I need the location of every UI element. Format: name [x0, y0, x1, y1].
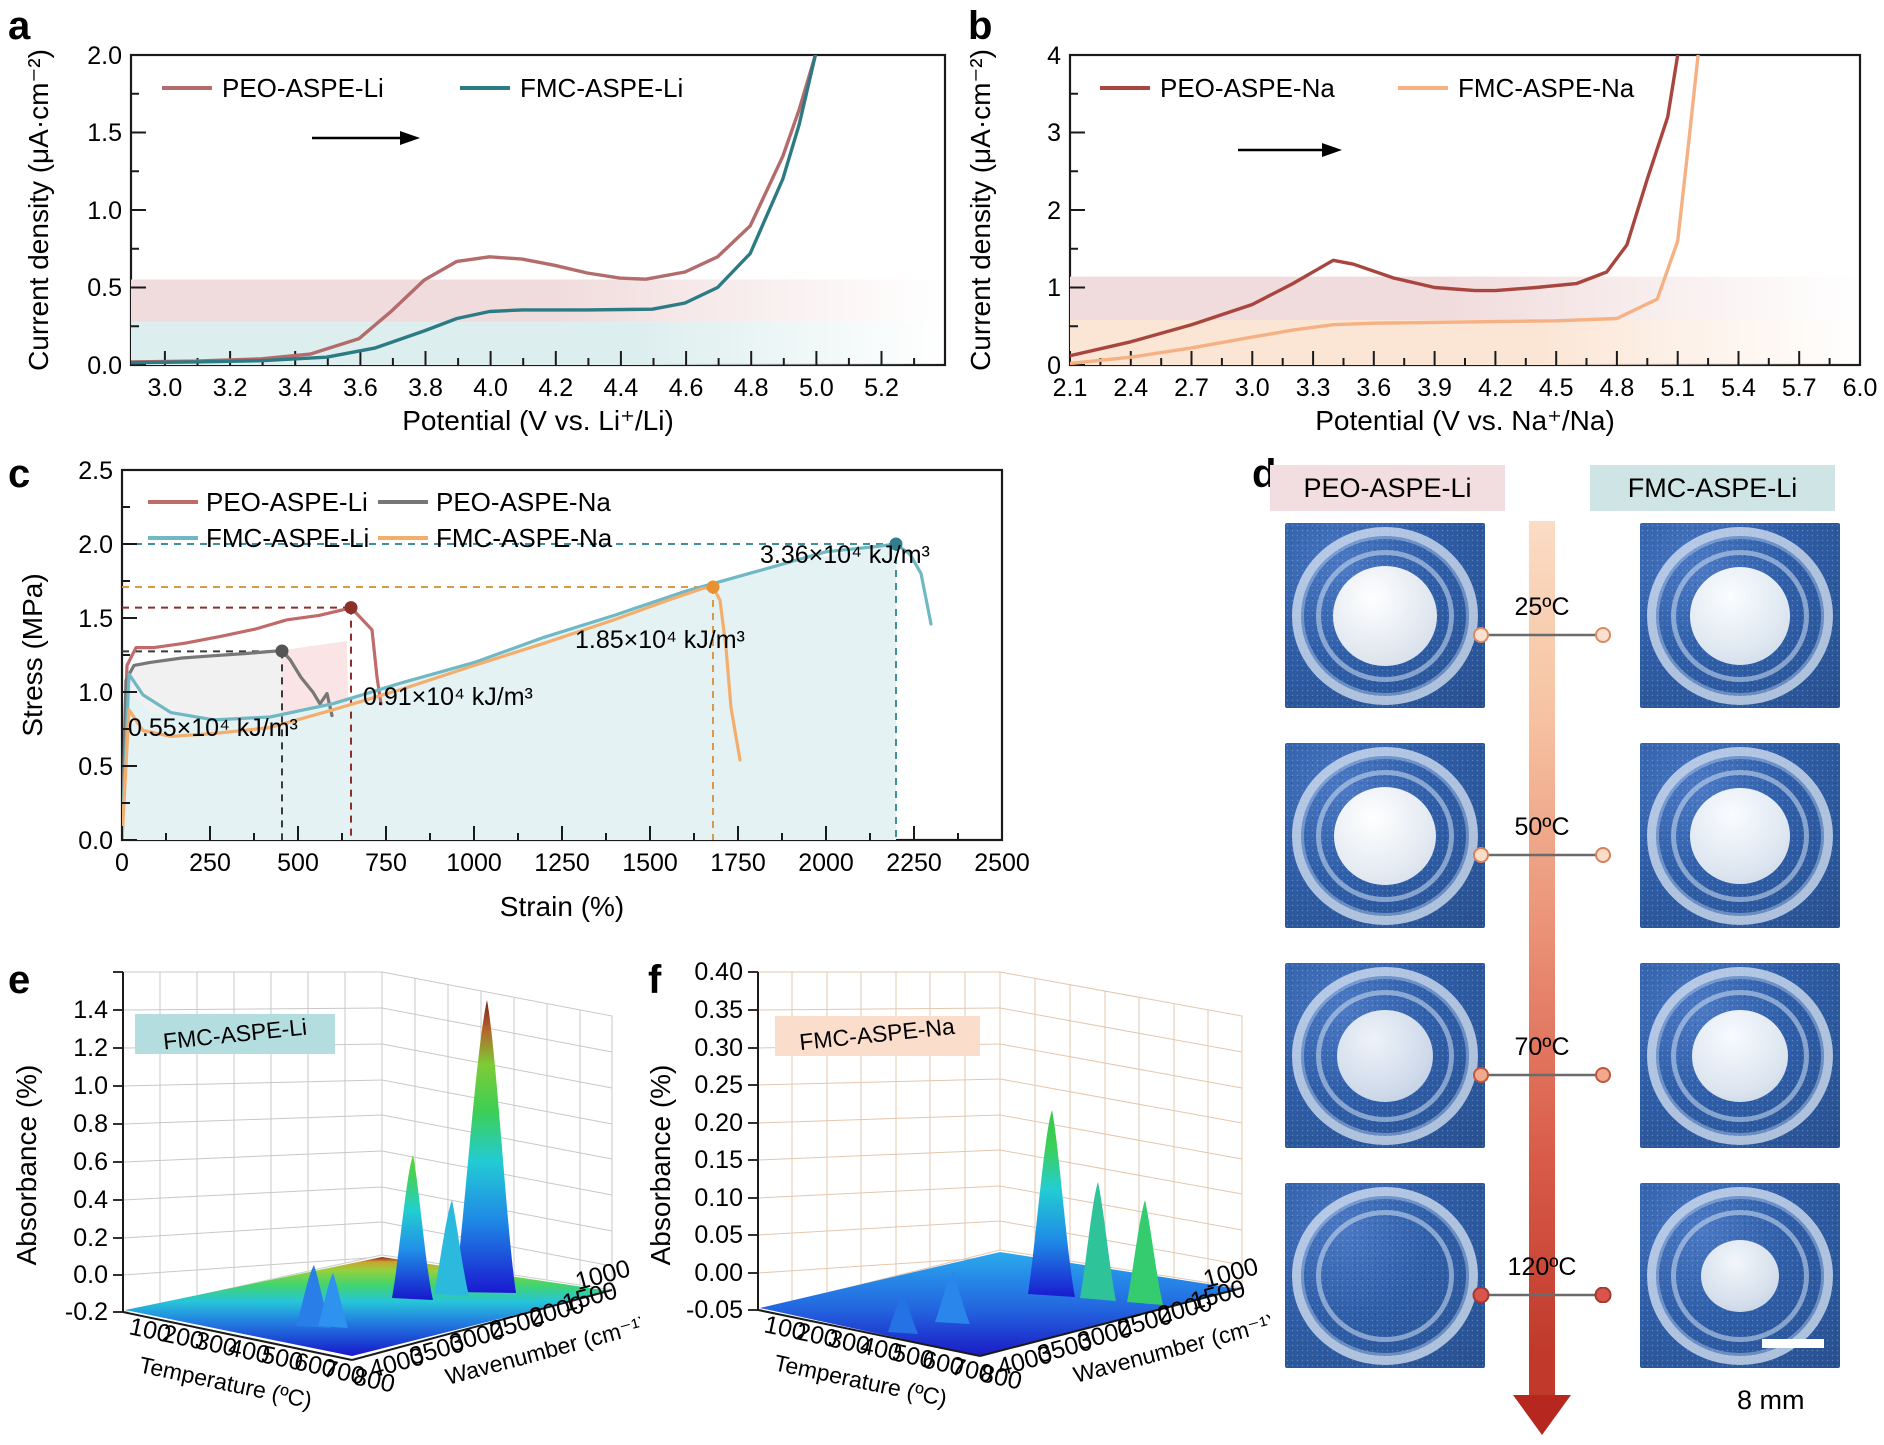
panel-f-ztick-3: 0.10 — [694, 1184, 743, 1212]
panel-a-ytick-0: 0.0 — [87, 352, 122, 380]
panel-a-xtick-3: 3.6 — [343, 374, 378, 402]
panel-b-ytick-2: 2 — [1047, 197, 1061, 225]
panel-d-scale-label: 8 mm — [1737, 1385, 1805, 1416]
panel-b-xtick-11: 5.4 — [1721, 374, 1756, 402]
panel-b-xtick-4: 3.3 — [1296, 374, 1331, 402]
panel-f-ztick-5: 0.20 — [694, 1109, 743, 1137]
panel-a-xtick-8: 4.6 — [669, 374, 704, 402]
panel-d-photo-fmc-50c — [1640, 743, 1840, 928]
panel-f-ztick-2: 0.05 — [694, 1221, 743, 1249]
panel-e-ztick-8: 1.4 — [73, 996, 108, 1024]
panel-c-annot-1: 0.91×10⁴ kJ/m³ — [363, 683, 533, 711]
panel-c-ytick-2: 1.0 — [78, 679, 113, 707]
panel-a-xtick-1: 3.2 — [213, 374, 248, 402]
panel-c-annot-0: 0.55×10⁴ kJ/m³ — [128, 714, 298, 742]
panel-e-ztick-4: 0.6 — [73, 1148, 108, 1176]
panel-b-chart: 0 1 2 3 4 2.1 2.4 2.7 3.0 3.3 3.6 3.9 — [960, 0, 1884, 440]
panel-e: FMC-ASPE-Li -0.2 0.0 0.2 0.4 0.6 0.8 1.0… — [0, 960, 640, 1445]
panel-e-zlabel: Absorbance (%) — [11, 1065, 42, 1266]
panel-c-xtick-9: 2250 — [886, 849, 942, 877]
panel-d: PEO-ASPE-Li FMC-ASPE-Li 25ºC 50ºC — [1245, 455, 1884, 1445]
panel-b-xtick-10: 5.1 — [1660, 374, 1695, 402]
panel-f-ztick-9: 0.40 — [694, 960, 743, 986]
panel-f-chart: FMC-ASPE-Na -0.05 0.00 0.05 0.10 0.15 0.… — [630, 960, 1270, 1445]
panel-b-xtick-13: 6.0 — [1843, 374, 1878, 402]
panel-d-dumbbell-3 — [1467, 1287, 1617, 1303]
panel-b: 0 1 2 3 4 2.1 2.4 2.7 3.0 3.3 3.6 3.9 — [960, 0, 1884, 440]
panel-d-header-peo: PEO-ASPE-Li — [1270, 465, 1505, 511]
panel-c-ytick-0: 0.0 — [78, 827, 113, 855]
panel-c-xtick-3: 750 — [365, 849, 407, 877]
panel-d-arrow-head-icon — [1513, 1395, 1571, 1435]
panel-c-legend-label-2: FMC-ASPE-Li — [206, 523, 369, 553]
panel-d-photo-peo-120c — [1285, 1183, 1485, 1368]
panel-e-ztick-7: 1.2 — [73, 1034, 108, 1062]
panel-d-temp-label-3: 120ºC — [1467, 1253, 1617, 1282]
panel-b-xtick-5: 3.6 — [1356, 374, 1391, 402]
panel-f: FMC-ASPE-Na -0.05 0.00 0.05 0.10 0.15 0.… — [630, 960, 1270, 1445]
panel-d-dumbbell-2 — [1467, 1067, 1617, 1083]
panel-d-photo-peo-50c — [1285, 743, 1485, 928]
panel-a-xtick-7: 4.4 — [604, 374, 639, 402]
panel-d-temp-label-2: 70ºC — [1467, 1033, 1617, 1062]
panel-c-xtick-5: 1250 — [534, 849, 590, 877]
panel-a-xtick-5: 4.0 — [473, 374, 508, 402]
panel-b-xtick-7: 4.2 — [1478, 374, 1513, 402]
panel-d-temp-label-1: 50ºC — [1467, 813, 1617, 842]
panel-c-xtick-0: 0 — [115, 849, 129, 877]
panel-a-xtick-2: 3.4 — [278, 374, 313, 402]
panel-c-xlabel: Strain (%) — [500, 891, 624, 922]
panel-f-ztick-0: -0.05 — [686, 1296, 743, 1324]
panel-d-dumbbell-1 — [1467, 847, 1617, 863]
panel-d-photo-fmc-25c — [1640, 523, 1840, 708]
panel-c-ytick-3: 1.5 — [78, 605, 113, 633]
panel-b-legend-label-1: FMC-ASPE-Na — [1458, 73, 1635, 103]
panel-f-z-axis: -0.05 0.00 0.05 0.10 0.15 0.20 0.25 0.30… — [645, 960, 758, 1324]
panel-e-ztick-6: 1.0 — [73, 1072, 108, 1100]
panel-e-ztick-1: 0.0 — [73, 1261, 108, 1289]
panel-b-ylabel: Current density (μA·cm⁻²) — [965, 49, 996, 371]
panel-a-xtick-11: 5.2 — [864, 374, 899, 402]
panel-b-legend-label-0: PEO-ASPE-Na — [1160, 73, 1335, 103]
panel-a-ytick-1: 0.5 — [87, 274, 122, 302]
panel-a: 0.0 0.5 1.0 1.5 2.0 3.0 3.2 3.4 3.6 3.8 … — [0, 0, 960, 440]
panel-b-xtick-2: 2.7 — [1174, 374, 1209, 402]
panel-b-xtick-6: 3.9 — [1417, 374, 1452, 402]
panel-c-legend-label-0: PEO-ASPE-Li — [206, 487, 368, 517]
panel-b-xtick-3: 3.0 — [1235, 374, 1270, 402]
panel-c-ytick-5: 2.5 — [78, 457, 113, 485]
panel-c-xtick-6: 1500 — [622, 849, 678, 877]
panel-d-temp-label-0: 25ºC — [1467, 593, 1617, 622]
panel-d-dumbbell-0 — [1467, 627, 1617, 643]
panel-a-xtick-0: 3.0 — [148, 374, 183, 402]
panel-f-ztick-6: 0.25 — [694, 1071, 743, 1099]
panel-c-annot-3: 3.36×10⁴ kJ/m³ — [760, 541, 930, 569]
panel-a-chart: 0.0 0.5 1.0 1.5 2.0 3.0 3.2 3.4 3.6 3.8 … — [0, 0, 960, 440]
panel-b-xtick-9: 4.8 — [1600, 374, 1635, 402]
panel-f-ztick-7: 0.30 — [694, 1034, 743, 1062]
panel-a-xtick-6: 4.2 — [538, 374, 573, 402]
panel-c-xtick-1: 250 — [189, 849, 231, 877]
panel-c-legend-label-1: PEO-ASPE-Na — [436, 487, 611, 517]
panel-b-xtick-0: 2.1 — [1053, 374, 1088, 402]
panel-a-bands — [131, 280, 945, 366]
panel-a-ytick-4: 2.0 — [87, 42, 122, 70]
panel-b-xlabel: Potential (V vs. Na⁺/Na) — [1315, 405, 1615, 436]
panel-c-xtick-8: 2000 — [798, 849, 854, 877]
panel-c-chart: 0.55×10⁴ kJ/m³ 0.91×10⁴ kJ/m³ 1.85×10⁴ k… — [0, 450, 1245, 960]
panel-a-xtick-9: 4.8 — [734, 374, 769, 402]
panel-a-ytick-2: 1.0 — [87, 197, 122, 225]
panel-a-legend-label-1: FMC-ASPE-Li — [520, 73, 683, 103]
panel-d-scale-bar — [1762, 1339, 1824, 1348]
panel-c: 0.55×10⁴ kJ/m³ 0.91×10⁴ kJ/m³ 1.85×10⁴ k… — [0, 450, 1245, 960]
panel-e-ztick-0: -0.2 — [65, 1298, 108, 1326]
panel-b-xtick-1: 2.4 — [1113, 374, 1148, 402]
panel-a-xtick-10: 5.0 — [799, 374, 834, 402]
panel-f-zlabel: Absorbance (%) — [645, 1065, 676, 1266]
panel-c-ytick-4: 2.0 — [78, 531, 113, 559]
panel-c-xtick-4: 1000 — [446, 849, 502, 877]
panel-c-xtick-2: 500 — [277, 849, 319, 877]
panel-e-z-axis: -0.2 0.0 0.2 0.4 0.6 0.8 1.0 1.2 1.4 Abs… — [11, 972, 123, 1326]
panel-e-chart: FMC-ASPE-Li -0.2 0.0 0.2 0.4 0.6 0.8 1.0… — [0, 960, 640, 1445]
panel-d-photo-peo-70c — [1285, 963, 1485, 1148]
panel-d-header-fmc: FMC-ASPE-Li — [1590, 465, 1835, 511]
panel-c-annot-2: 1.85×10⁴ kJ/m³ — [575, 626, 745, 654]
panel-f-ztick-1: 0.00 — [694, 1259, 743, 1287]
panel-d-photo-fmc-70c — [1640, 963, 1840, 1148]
panel-b-ytick-1: 1 — [1047, 274, 1061, 302]
panel-b-ytick-4: 4 — [1047, 42, 1061, 70]
panel-f-ztick-8: 0.35 — [694, 996, 743, 1024]
panel-c-ytick-1: 0.5 — [78, 753, 113, 781]
panel-b-xtick-12: 5.7 — [1782, 374, 1817, 402]
panel-a-legend-label-0: PEO-ASPE-Li — [222, 73, 384, 103]
panel-a-xtick-4: 3.8 — [408, 374, 443, 402]
panel-c-legend-label-3: FMC-ASPE-Na — [436, 523, 613, 553]
panel-e-ztick-5: 0.8 — [73, 1110, 108, 1138]
panel-e-ztick-2: 0.2 — [73, 1224, 108, 1252]
panel-a-ylabel: Current density (μA·cm⁻²) — [23, 49, 54, 371]
panel-a-ytick-3: 1.5 — [87, 119, 122, 147]
panel-b-ytick-3: 3 — [1047, 119, 1061, 147]
panel-c-ylabel: Stress (MPa) — [17, 573, 48, 736]
panel-c-xtick-7: 1750 — [710, 849, 766, 877]
panel-f-ztick-4: 0.15 — [694, 1146, 743, 1174]
panel-d-photo-peo-25c — [1285, 523, 1485, 708]
panel-d-photo-fmc-120c — [1640, 1183, 1840, 1368]
panel-a-xlabel: Potential (V vs. Li⁺/Li) — [402, 405, 674, 436]
panel-c-xtick-10: 2500 — [974, 849, 1030, 877]
panel-e-ztick-3: 0.4 — [73, 1186, 108, 1214]
panel-b-xtick-8: 4.5 — [1539, 374, 1574, 402]
